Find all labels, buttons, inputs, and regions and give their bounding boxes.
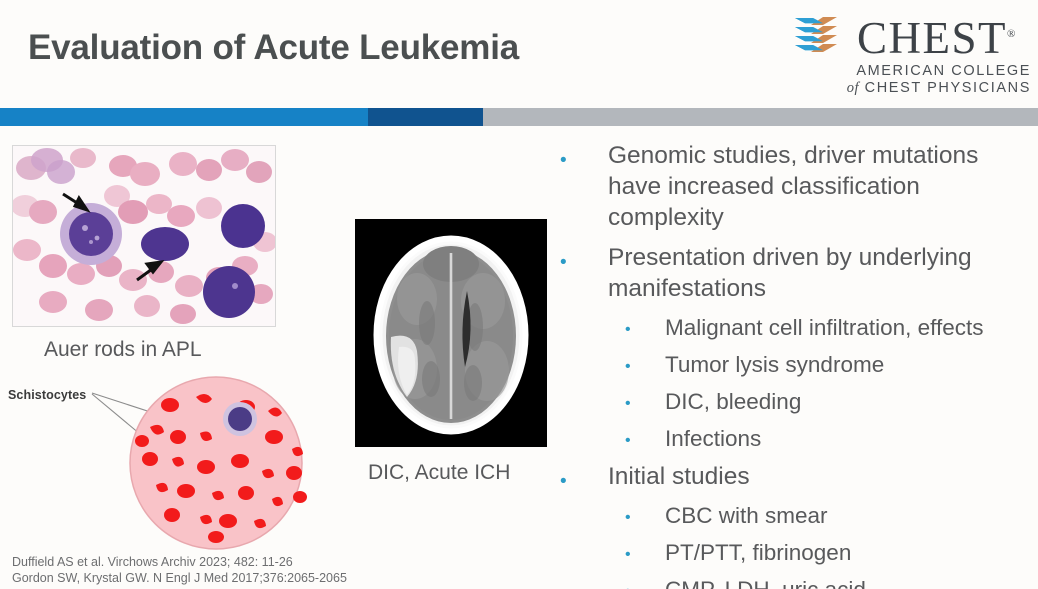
bullet-item: •Presentation driven by underlying manif… [560, 242, 1038, 304]
bullet-item: •CMP, LDH, uric acid [560, 575, 1038, 589]
bullet-marker-icon: • [625, 575, 665, 589]
accent-bar-segment-light-blue [0, 108, 368, 126]
bullet-marker-icon: • [560, 461, 608, 491]
bullet-item: •Malignant cell infiltration, effects [560, 313, 1038, 342]
ct-caption: DIC, Acute ICH [368, 461, 510, 485]
accent-bar-segment-dark-blue [368, 108, 483, 126]
bullet-item: •Genomic studies, driver mutations have … [560, 140, 1038, 233]
bullet-marker-icon: • [625, 501, 665, 526]
chest-wordmark: CHEST® [857, 12, 1015, 61]
logo-subtitle-of: of [847, 80, 859, 96]
bullet-marker-icon: • [625, 424, 665, 449]
bullet-text: CBC with smear [665, 501, 828, 530]
blood-smear-image [12, 145, 276, 327]
accent-bar [0, 108, 1038, 126]
chest-logo: CHEST® AMERICAN COLLEGE of CHEST PHYSICI… [793, 12, 1031, 100]
schistocytes-label: Schistocytes [8, 388, 86, 402]
bullet-text: Infections [665, 424, 761, 453]
bullet-text: Tumor lysis syndrome [665, 350, 884, 379]
bullet-marker-icon: • [560, 140, 608, 170]
head-ct-image [355, 219, 547, 447]
bullet-item: •Tumor lysis syndrome [560, 350, 1038, 379]
bullet-text: Genomic studies, driver mutations have i… [608, 140, 1038, 233]
chest-chevron-mark [793, 14, 851, 60]
bullet-marker-icon: • [625, 350, 665, 375]
bullet-marker-icon: • [625, 538, 665, 563]
citation-block: Duffield AS et al. Virchows Archiv 2023;… [12, 554, 347, 586]
bullet-item: •Infections [560, 424, 1038, 453]
logo-subtitle-line2: of CHEST PHYSICIANS [793, 80, 1031, 97]
smear-caption: Auer rods in APL [44, 338, 202, 362]
accent-bar-segment-gray [483, 108, 1038, 126]
bullet-item: •Initial studies [560, 461, 1038, 492]
citation-line: Gordon SW, Krystal GW. N Engl J Med 2017… [12, 570, 347, 586]
bullet-marker-icon: • [625, 387, 665, 412]
chest-wordmark-text: CHEST [857, 13, 1007, 63]
page-title: Evaluation of Acute Leukemia [28, 28, 519, 68]
bullet-text: Initial studies [608, 461, 750, 492]
bullet-list: •Genomic studies, driver mutations have … [560, 140, 1038, 589]
bullet-text: PT/PTT, fibrinogen [665, 538, 851, 567]
bullet-marker-icon: • [560, 242, 608, 272]
bullet-text: Presentation driven by underlying manife… [608, 242, 1038, 304]
logo-subtitle-line1: AMERICAN COLLEGE [793, 63, 1031, 79]
bullet-marker-icon: • [625, 313, 665, 338]
citation-line: Duffield AS et al. Virchows Archiv 2023;… [12, 554, 347, 570]
bullet-item: •DIC, bleeding [560, 387, 1038, 416]
blood-smear-graphic [13, 146, 275, 326]
bullet-item: •CBC with smear [560, 501, 1038, 530]
bullet-text: CMP, LDH, uric acid [665, 575, 866, 589]
bullet-text: DIC, bleeding [665, 387, 801, 416]
bullet-item: •PT/PTT, fibrinogen [560, 538, 1038, 567]
registered-mark: ® [1007, 28, 1015, 40]
slide-canvas: Evaluation of Acute Leukemia [0, 0, 1038, 589]
head-ct-graphic [355, 219, 547, 447]
bullet-text: Malignant cell infiltration, effects [665, 313, 984, 342]
logo-subtitle-rest: CHEST PHYSICIANS [865, 80, 1031, 96]
